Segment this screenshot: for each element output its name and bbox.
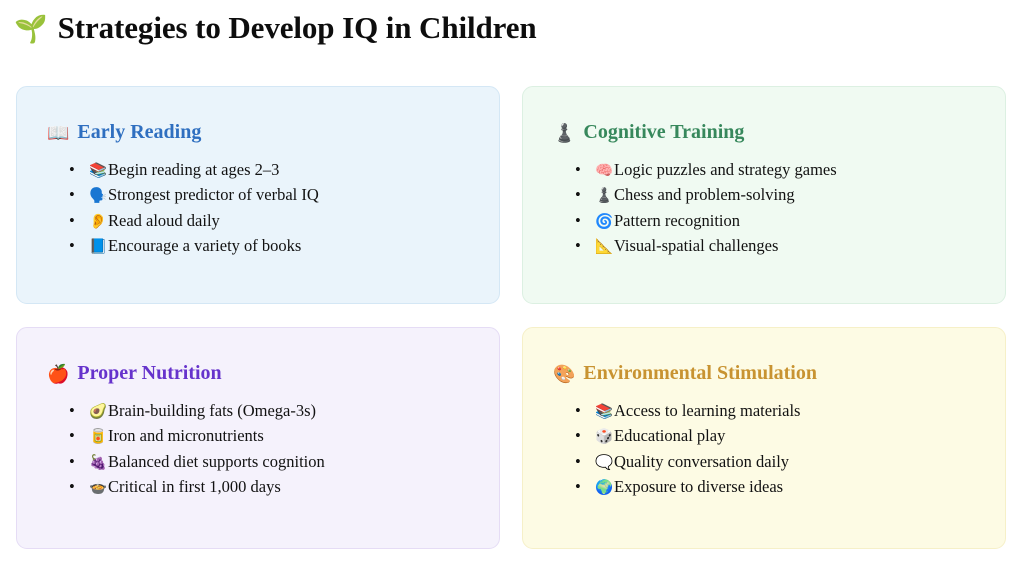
- card-title: 🍎 Proper Nutrition: [47, 362, 473, 385]
- list-item: • 👂Read aloud daily: [69, 209, 473, 234]
- grapes-icon: 🍇: [89, 452, 108, 475]
- bullet-marker: •: [575, 183, 581, 206]
- books-icon: 📚: [595, 401, 614, 424]
- list-item: • 🍲Critical in first 1,000 days: [69, 475, 473, 500]
- list-item: • 🌀Pattern recognition: [575, 209, 979, 234]
- card-list: • 🧠Logic puzzles and strategy games • ♟️…: [549, 158, 979, 260]
- card-title-label: Early Reading: [77, 121, 201, 144]
- infographic-page: 🌱 Strategies to Develop IQ in Children 📖…: [0, 0, 1024, 569]
- list-item: • 🎲Educational play: [575, 424, 979, 449]
- strategy-card-early-reading: 📖 Early Reading • 📚Begin reading at ages…: [16, 86, 500, 304]
- list-item: • 🍇Balanced diet supports cognition: [69, 450, 473, 475]
- list-item-label: Visual-spatial challenges: [614, 236, 778, 255]
- globe-icon: 🌍: [595, 477, 614, 500]
- list-item: • 📐Visual-spatial challenges: [575, 234, 979, 259]
- list-item-label: Read aloud daily: [108, 211, 220, 230]
- bullet-marker: •: [575, 234, 581, 257]
- list-item: • 🗣️Strongest predictor of verbal IQ: [69, 183, 473, 208]
- list-item-label: Pattern recognition: [614, 211, 740, 230]
- bullet-marker: •: [69, 209, 75, 232]
- seedling-icon: 🌱: [14, 16, 48, 43]
- card-title-label: Proper Nutrition: [77, 362, 221, 385]
- bullet-marker: •: [575, 158, 581, 181]
- list-item-label: Strongest predictor of verbal IQ: [108, 185, 319, 204]
- artist-palette-icon: 🎨: [553, 365, 575, 383]
- bullet-marker: •: [575, 424, 581, 447]
- list-item-label: Encourage a variety of books: [108, 236, 301, 255]
- list-item: • 🗨️Quality conversation daily: [575, 450, 979, 475]
- cyclone-icon: 🌀: [595, 211, 614, 234]
- card-title-label: Cognitive Training: [583, 121, 744, 144]
- chess-pawn-icon: ♟️: [553, 124, 575, 142]
- list-item-label: Logic puzzles and strategy games: [614, 160, 837, 179]
- list-item-label: Balanced diet supports cognition: [108, 452, 325, 471]
- strategy-card-environmental-stimulation: 🎨 Environmental Stimulation • 📚Access to…: [522, 327, 1006, 549]
- list-item: • 📚Begin reading at ages 2–3: [69, 158, 473, 183]
- books-icon: 📚: [89, 160, 108, 183]
- list-item: • 🥑Brain-building fats (Omega-3s): [69, 399, 473, 424]
- list-item-label: Exposure to diverse ideas: [614, 477, 783, 496]
- bullet-marker: •: [69, 234, 75, 257]
- strategy-card-proper-nutrition: 🍎 Proper Nutrition • 🥑Brain-building fat…: [16, 327, 500, 549]
- card-list: • 🥑Brain-building fats (Omega-3s) • 🥫Iro…: [43, 399, 473, 501]
- bullet-marker: •: [69, 475, 75, 498]
- game-die-icon: 🎲: [595, 426, 614, 449]
- page-header: 🌱 Strategies to Develop IQ in Children: [0, 0, 1024, 52]
- list-item-label: Educational play: [614, 426, 725, 445]
- card-list: • 📚Begin reading at ages 2–3 • 🗣️Stronge…: [43, 158, 473, 260]
- bullet-marker: •: [69, 424, 75, 447]
- pot-of-food-icon: 🍲: [89, 477, 108, 500]
- list-item-label: Critical in first 1,000 days: [108, 477, 281, 496]
- triangular-ruler-icon: 📐: [595, 236, 614, 259]
- list-item-label: Chess and problem-solving: [614, 185, 795, 204]
- ear-icon: 👂: [89, 211, 108, 234]
- list-item-label: Brain-building fats (Omega-3s): [108, 401, 316, 420]
- list-item: • 🥫Iron and micronutrients: [69, 424, 473, 449]
- chess-pawn-icon: ♟️: [595, 185, 614, 208]
- list-item-label: Begin reading at ages 2–3: [108, 160, 279, 179]
- strategy-card-grid: 📖 Early Reading • 📚Begin reading at ages…: [0, 52, 1024, 549]
- list-item: • 📚Access to learning materials: [575, 399, 979, 424]
- list-item-label: Quality conversation daily: [614, 452, 789, 471]
- bullet-marker: •: [575, 475, 581, 498]
- list-item: • 🧠Logic puzzles and strategy games: [575, 158, 979, 183]
- canned-food-icon: 🥫: [89, 426, 108, 449]
- avocado-icon: 🥑: [89, 401, 108, 424]
- bullet-marker: •: [575, 209, 581, 232]
- bullet-marker: •: [69, 399, 75, 422]
- list-item: • 📘Encourage a variety of books: [69, 234, 473, 259]
- card-title-label: Environmental Stimulation: [583, 362, 817, 385]
- list-item: • 🌍Exposure to diverse ideas: [575, 475, 979, 500]
- open-book-icon: 📖: [47, 124, 69, 142]
- brain-icon: 🧠: [595, 160, 614, 183]
- bullet-marker: •: [575, 450, 581, 473]
- bullet-marker: •: [69, 183, 75, 206]
- page-title: Strategies to Develop IQ in Children: [58, 10, 537, 46]
- bullet-marker: •: [575, 399, 581, 422]
- speech-balloon-icon: 🗨️: [595, 452, 614, 475]
- bullet-marker: •: [69, 158, 75, 181]
- card-list: • 📚Access to learning materials • 🎲Educa…: [549, 399, 979, 501]
- list-item-label: Iron and micronutrients: [108, 426, 264, 445]
- blue-book-icon: 📘: [89, 236, 108, 259]
- bullet-marker: •: [69, 450, 75, 473]
- list-item-label: Access to learning materials: [614, 401, 800, 420]
- list-item: • ♟️Chess and problem-solving: [575, 183, 979, 208]
- card-title: 📖 Early Reading: [47, 121, 473, 144]
- card-title: ♟️ Cognitive Training: [553, 121, 979, 144]
- speaking-head-icon: 🗣️: [89, 185, 108, 208]
- strategy-card-cognitive-training: ♟️ Cognitive Training • 🧠Logic puzzles a…: [522, 86, 1006, 304]
- card-title: 🎨 Environmental Stimulation: [553, 362, 979, 385]
- red-apple-icon: 🍎: [47, 365, 69, 383]
